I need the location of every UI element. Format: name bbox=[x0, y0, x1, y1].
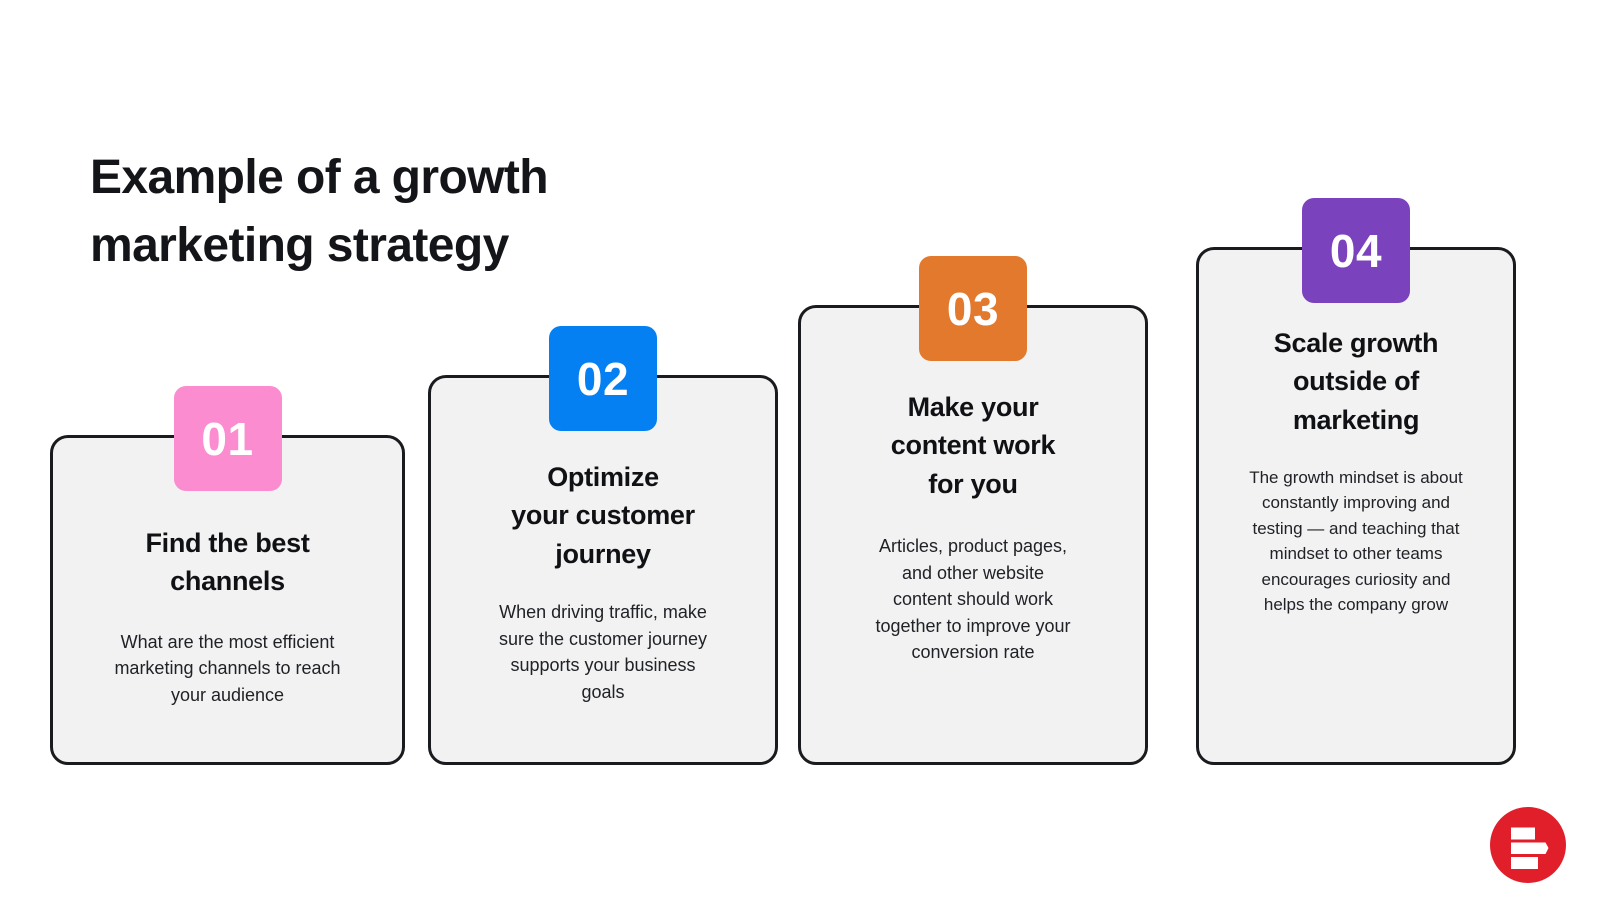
step-description: Articles, product pages, and other websi… bbox=[851, 533, 1096, 666]
step-number-badge-01: 01 bbox=[174, 386, 282, 491]
step-description: When driving traffic, make sure the cust… bbox=[471, 599, 736, 706]
brand-logo-icon bbox=[1490, 807, 1566, 883]
step-card-4[interactable]: 04 Scale growth outside of marketing The… bbox=[1196, 247, 1516, 765]
card-surface: 04 Scale growth outside of marketing The… bbox=[1196, 247, 1516, 765]
step-card-2[interactable]: 02 Optimize your customer journey When d… bbox=[428, 375, 778, 765]
step-title: Make your content work for you bbox=[891, 388, 1055, 503]
step-title: Optimize your customer journey bbox=[511, 458, 695, 573]
card-surface: 02 Optimize your customer journey When d… bbox=[428, 375, 778, 765]
steps-container: 01 Find the best channels What are the m… bbox=[0, 0, 1600, 923]
step-number-badge-03: 03 bbox=[919, 256, 1027, 361]
step-card-3[interactable]: 03 Make your content work for you Articl… bbox=[798, 305, 1148, 765]
card-surface: 03 Make your content work for you Articl… bbox=[798, 305, 1148, 765]
step-number-badge-02: 02 bbox=[549, 326, 657, 431]
step-number-badge-04: 04 bbox=[1302, 198, 1410, 303]
step-description: What are the most efficient marketing ch… bbox=[93, 629, 363, 709]
card-surface: 01 Find the best channels What are the m… bbox=[50, 435, 405, 765]
step-description: The growth mindset is about constantly i… bbox=[1216, 465, 1496, 618]
step-title: Find the best channels bbox=[145, 524, 309, 601]
step-title: Scale growth outside of marketing bbox=[1274, 324, 1438, 439]
step-card-1[interactable]: 01 Find the best channels What are the m… bbox=[50, 435, 405, 765]
